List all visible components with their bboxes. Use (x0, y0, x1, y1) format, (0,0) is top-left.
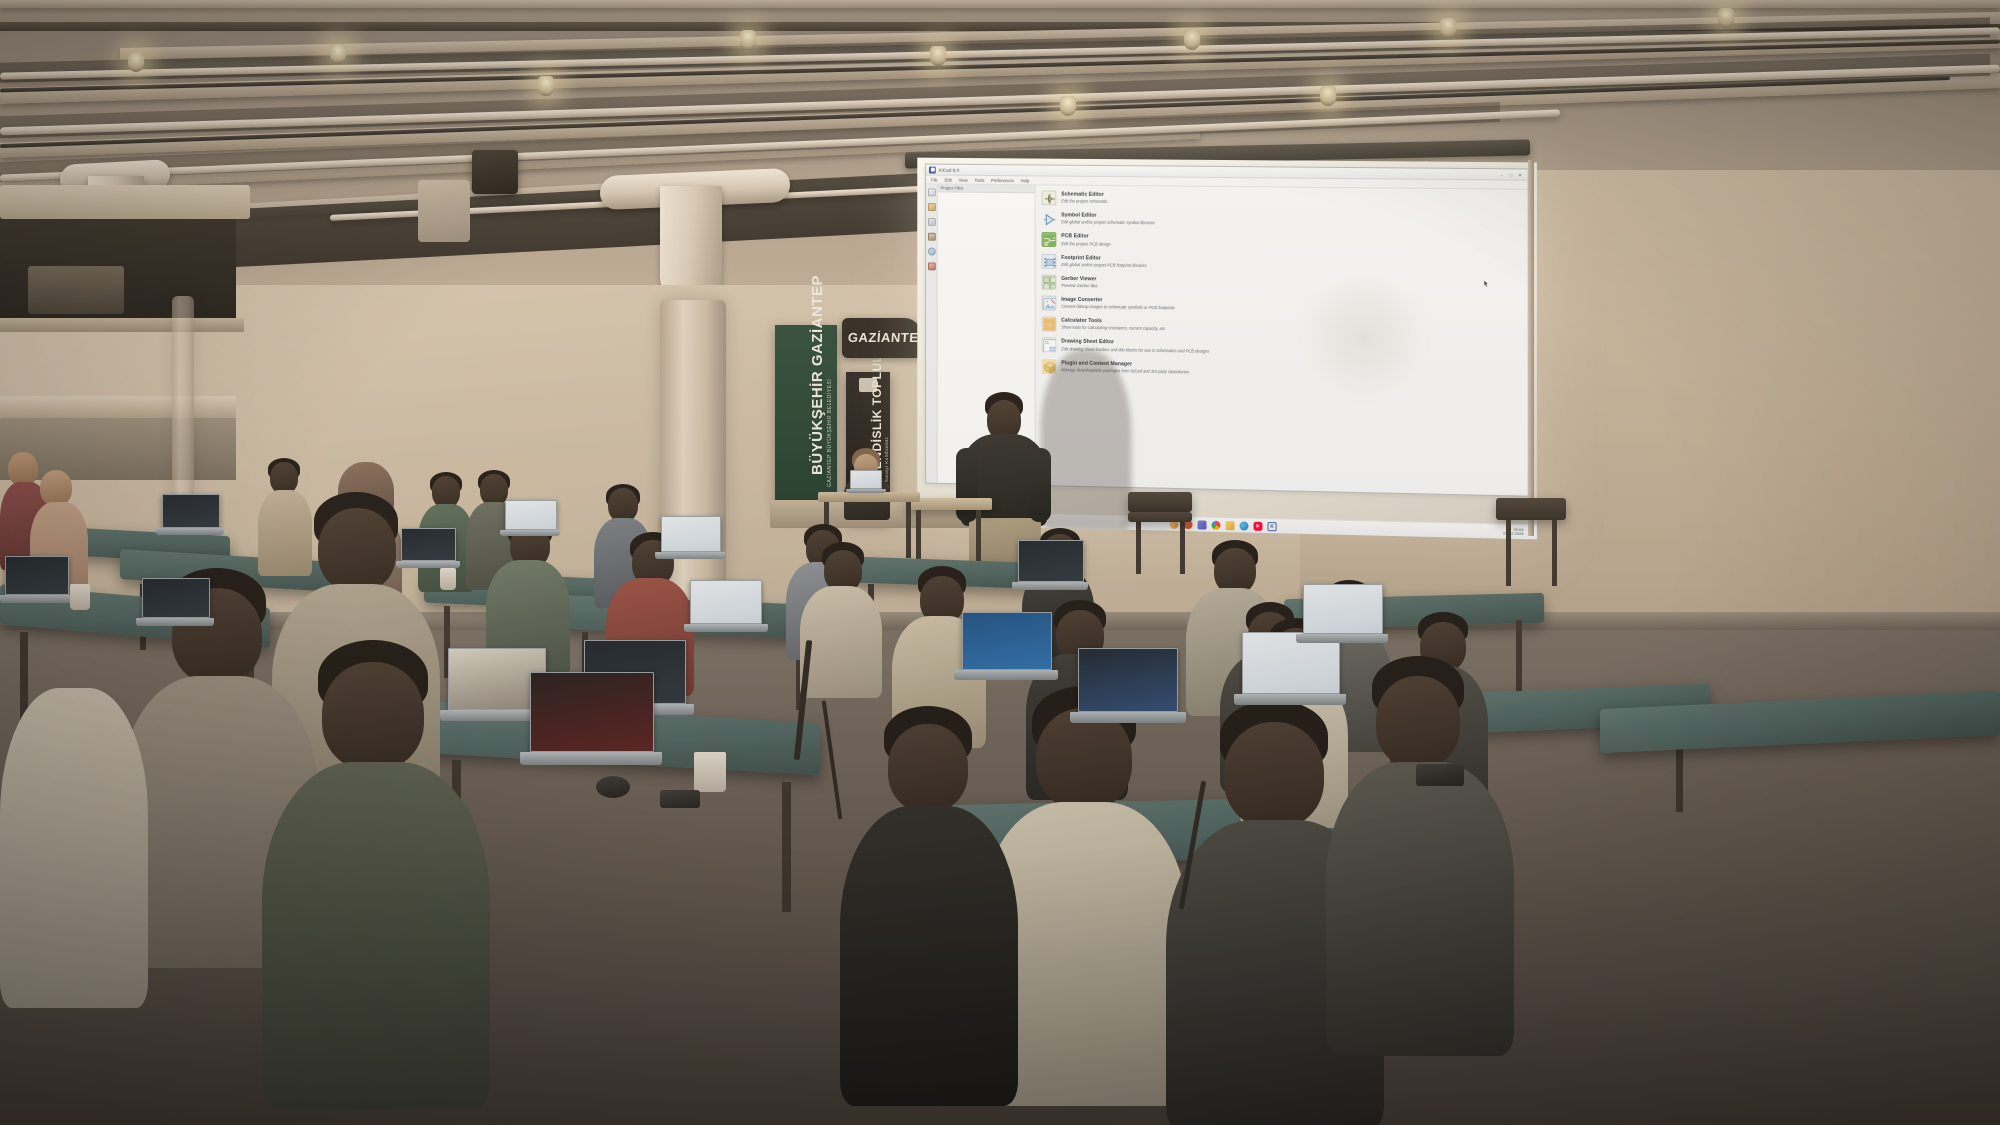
kicad-icon[interactable]: K (1268, 522, 1277, 531)
spotlight (1440, 18, 1456, 38)
wifi-icon[interactable] (1479, 528, 1484, 533)
lecture-hall-photo: BÜYÜKŞEHİR GAZİANTEP GAZİANTEP BÜYÜKŞEHİ… (0, 0, 2000, 1125)
audience-member-foreground (840, 706, 1020, 1106)
audience-member-foreground (0, 648, 150, 1008)
wall-ledge-lower (0, 318, 244, 332)
laptop[interactable] (156, 494, 224, 540)
chair-leg (1506, 520, 1511, 586)
launcher-title: Schematic Editor (1061, 192, 1107, 198)
menu-help[interactable]: Help (1021, 178, 1030, 183)
archive-project-icon[interactable] (927, 233, 935, 241)
launcher-desc: Convert bitmap images to schematic symbo… (1061, 304, 1175, 311)
youtube-icon[interactable] (1254, 521, 1263, 530)
laptop[interactable] (684, 580, 768, 638)
launcher-item-schematic-editor[interactable]: Schematic Editor Edit the project schema… (1040, 189, 1528, 211)
launcher-desc: Edit global and/or project PCB footprint… (1061, 262, 1146, 268)
wall-panel-right (1716, 488, 1966, 556)
symbol-editor-icon (1042, 211, 1057, 226)
projector-hotspot (1293, 271, 1435, 404)
presenter-shadow-on-screen (1041, 349, 1132, 532)
file-explorer-icon[interactable] (1225, 521, 1234, 530)
onedrive-icon[interactable] (1470, 528, 1475, 533)
spotlight (930, 46, 946, 66)
table-leg (782, 782, 791, 912)
launcher-title: Footprint Editor (1061, 255, 1146, 262)
ceiling-speaker (472, 150, 518, 194)
spotlight (1718, 8, 1734, 28)
table-leg (1516, 620, 1522, 692)
presenter-arm-right (1029, 448, 1051, 522)
table-leg (906, 502, 911, 558)
launcher-item-drawing-sheet-editor[interactable]: Drawing Sheet Editor Edit drawing sheet … (1040, 336, 1528, 361)
chevron-up-icon[interactable] (1462, 528, 1467, 533)
menu-preferences[interactable]: Preferences (991, 178, 1014, 183)
smartphone[interactable] (660, 790, 700, 808)
drawing-sheet-editor-icon (1042, 338, 1057, 353)
launcher-title: Symbol Editor (1061, 213, 1154, 220)
gerber-viewer-icon (1042, 274, 1057, 289)
launcher-item-image-converter[interactable]: Image Converter Convert bitmap images to… (1040, 294, 1528, 318)
refresh-icon[interactable] (927, 248, 935, 256)
close-icon[interactable]: ✕ (1517, 172, 1522, 177)
assistant-laptop[interactable] (846, 470, 886, 496)
presenter-side-table (908, 498, 992, 510)
spotlight (740, 30, 756, 50)
new-project-icon[interactable] (927, 188, 935, 196)
wall-ledge (0, 185, 250, 219)
launcher-desc: Show tools for calculating resistance, c… (1061, 325, 1166, 332)
schematic-editor-icon (1042, 190, 1057, 205)
image-converter-icon (1042, 295, 1057, 310)
banner-green-title: BÜYÜKŞEHİR GAZİANTEP (809, 275, 826, 475)
ceiling-joist (0, 0, 2000, 8)
launcher-desc: Preview Gerber files (1061, 283, 1097, 288)
calculator-tools-icon (1042, 316, 1057, 331)
spotlight (1060, 96, 1076, 116)
mouse[interactable] (596, 776, 630, 798)
edge-icon[interactable] (1239, 521, 1248, 530)
teams-icon[interactable] (1198, 520, 1207, 529)
chair-leg (1552, 520, 1557, 586)
menu-tools[interactable]: Tools (974, 177, 984, 182)
chair-seat[interactable] (1128, 512, 1192, 522)
sign-gaziantep-text: GAZİANTEP (847, 330, 928, 345)
minimize-icon[interactable]: – (1499, 172, 1504, 177)
open-folder-icon[interactable] (927, 262, 935, 270)
audience-member (800, 542, 884, 698)
launcher-item-pcb-editor[interactable]: PCB Editor Edit the project PCB design (1040, 231, 1528, 254)
launcher-desc: Edit the project schematic (1061, 199, 1107, 204)
laptop[interactable] (655, 516, 725, 564)
coffee-cup[interactable] (70, 584, 90, 610)
menu-file[interactable]: File (931, 177, 938, 182)
launcher-title: Gerber Viewer (1061, 276, 1097, 282)
laptop[interactable] (1296, 584, 1388, 650)
save-project-icon[interactable] (927, 218, 935, 226)
window-controls[interactable]: – □ ✕ (1499, 172, 1525, 177)
launcher-item-footprint-editor[interactable]: Footprint Editor Edit global and/or proj… (1040, 252, 1528, 275)
laptop[interactable] (136, 578, 214, 632)
footprint-editor-icon (1042, 253, 1057, 268)
coffee-cup[interactable] (440, 568, 456, 590)
wall-panel (28, 266, 124, 314)
chair[interactable] (1496, 498, 1566, 520)
banner-green-subtitle: GAZİANTEP BÜYÜKŞEHİR BELEDİYESİ (827, 379, 833, 487)
spotlight (538, 76, 554, 96)
laptop[interactable] (500, 500, 560, 542)
laptop[interactable] (1070, 648, 1186, 732)
kicad-window-title: KiCad 9.0 (939, 167, 960, 172)
launcher-title: PCB Editor (1061, 234, 1110, 241)
audience-member-foreground (1326, 656, 1516, 1056)
launcher-item-symbol-editor[interactable]: Symbol Editor Edit global and/or project… (1040, 210, 1528, 232)
smartphone[interactable] (1416, 764, 1464, 786)
sign-gaziantep: GAZİANTEP (842, 318, 922, 358)
laptop[interactable] (954, 612, 1058, 688)
chair[interactable] (1128, 492, 1192, 512)
menu-view[interactable]: View (959, 177, 968, 182)
laptop[interactable] (0, 556, 74, 608)
mouse-pointer-icon (1484, 274, 1489, 281)
taskbar-system-tray[interactable]: 20:04 21.02.2026 (1462, 526, 1537, 536)
presenter-arm-left (956, 448, 978, 522)
laptop[interactable] (520, 672, 662, 776)
spotlight (1184, 30, 1200, 50)
launcher-item-calculator-tools[interactable]: Calculator Tools Show tools for calculat… (1040, 315, 1528, 339)
battery-icon[interactable] (1495, 529, 1500, 534)
volume-icon[interactable] (1487, 529, 1492, 534)
ceiling-projector-mount (418, 180, 470, 242)
maximize-icon[interactable]: □ (1508, 172, 1513, 177)
chrome-icon[interactable] (1212, 520, 1221, 529)
menu-edit[interactable]: Edit (944, 177, 951, 182)
laptop[interactable] (1012, 540, 1088, 596)
wall-counter (0, 396, 236, 418)
screen-edge (1528, 160, 1534, 536)
launcher-desc: Edit global and/or project schematic sym… (1061, 220, 1154, 226)
coffee-cup[interactable] (694, 752, 726, 792)
launcher-desc: Edit the project PCB design (1061, 241, 1110, 247)
pcb-editor-icon (1042, 232, 1057, 247)
launcher-item-gerber-viewer[interactable]: Gerber Viewer Preview Gerber files (1040, 273, 1528, 296)
kicad-left-toolbar[interactable] (926, 184, 938, 482)
open-project-icon[interactable] (927, 203, 935, 211)
spotlight (330, 44, 346, 64)
banner-gaziantep-municipality: BÜYÜKŞEHİR GAZİANTEP GAZİANTEP BÜYÜKŞEHİ… (775, 325, 837, 515)
kicad-app-icon (929, 166, 936, 173)
spotlight (1320, 86, 1336, 106)
project-tree-header: Project Files (938, 184, 1035, 193)
spotlight (128, 52, 144, 72)
